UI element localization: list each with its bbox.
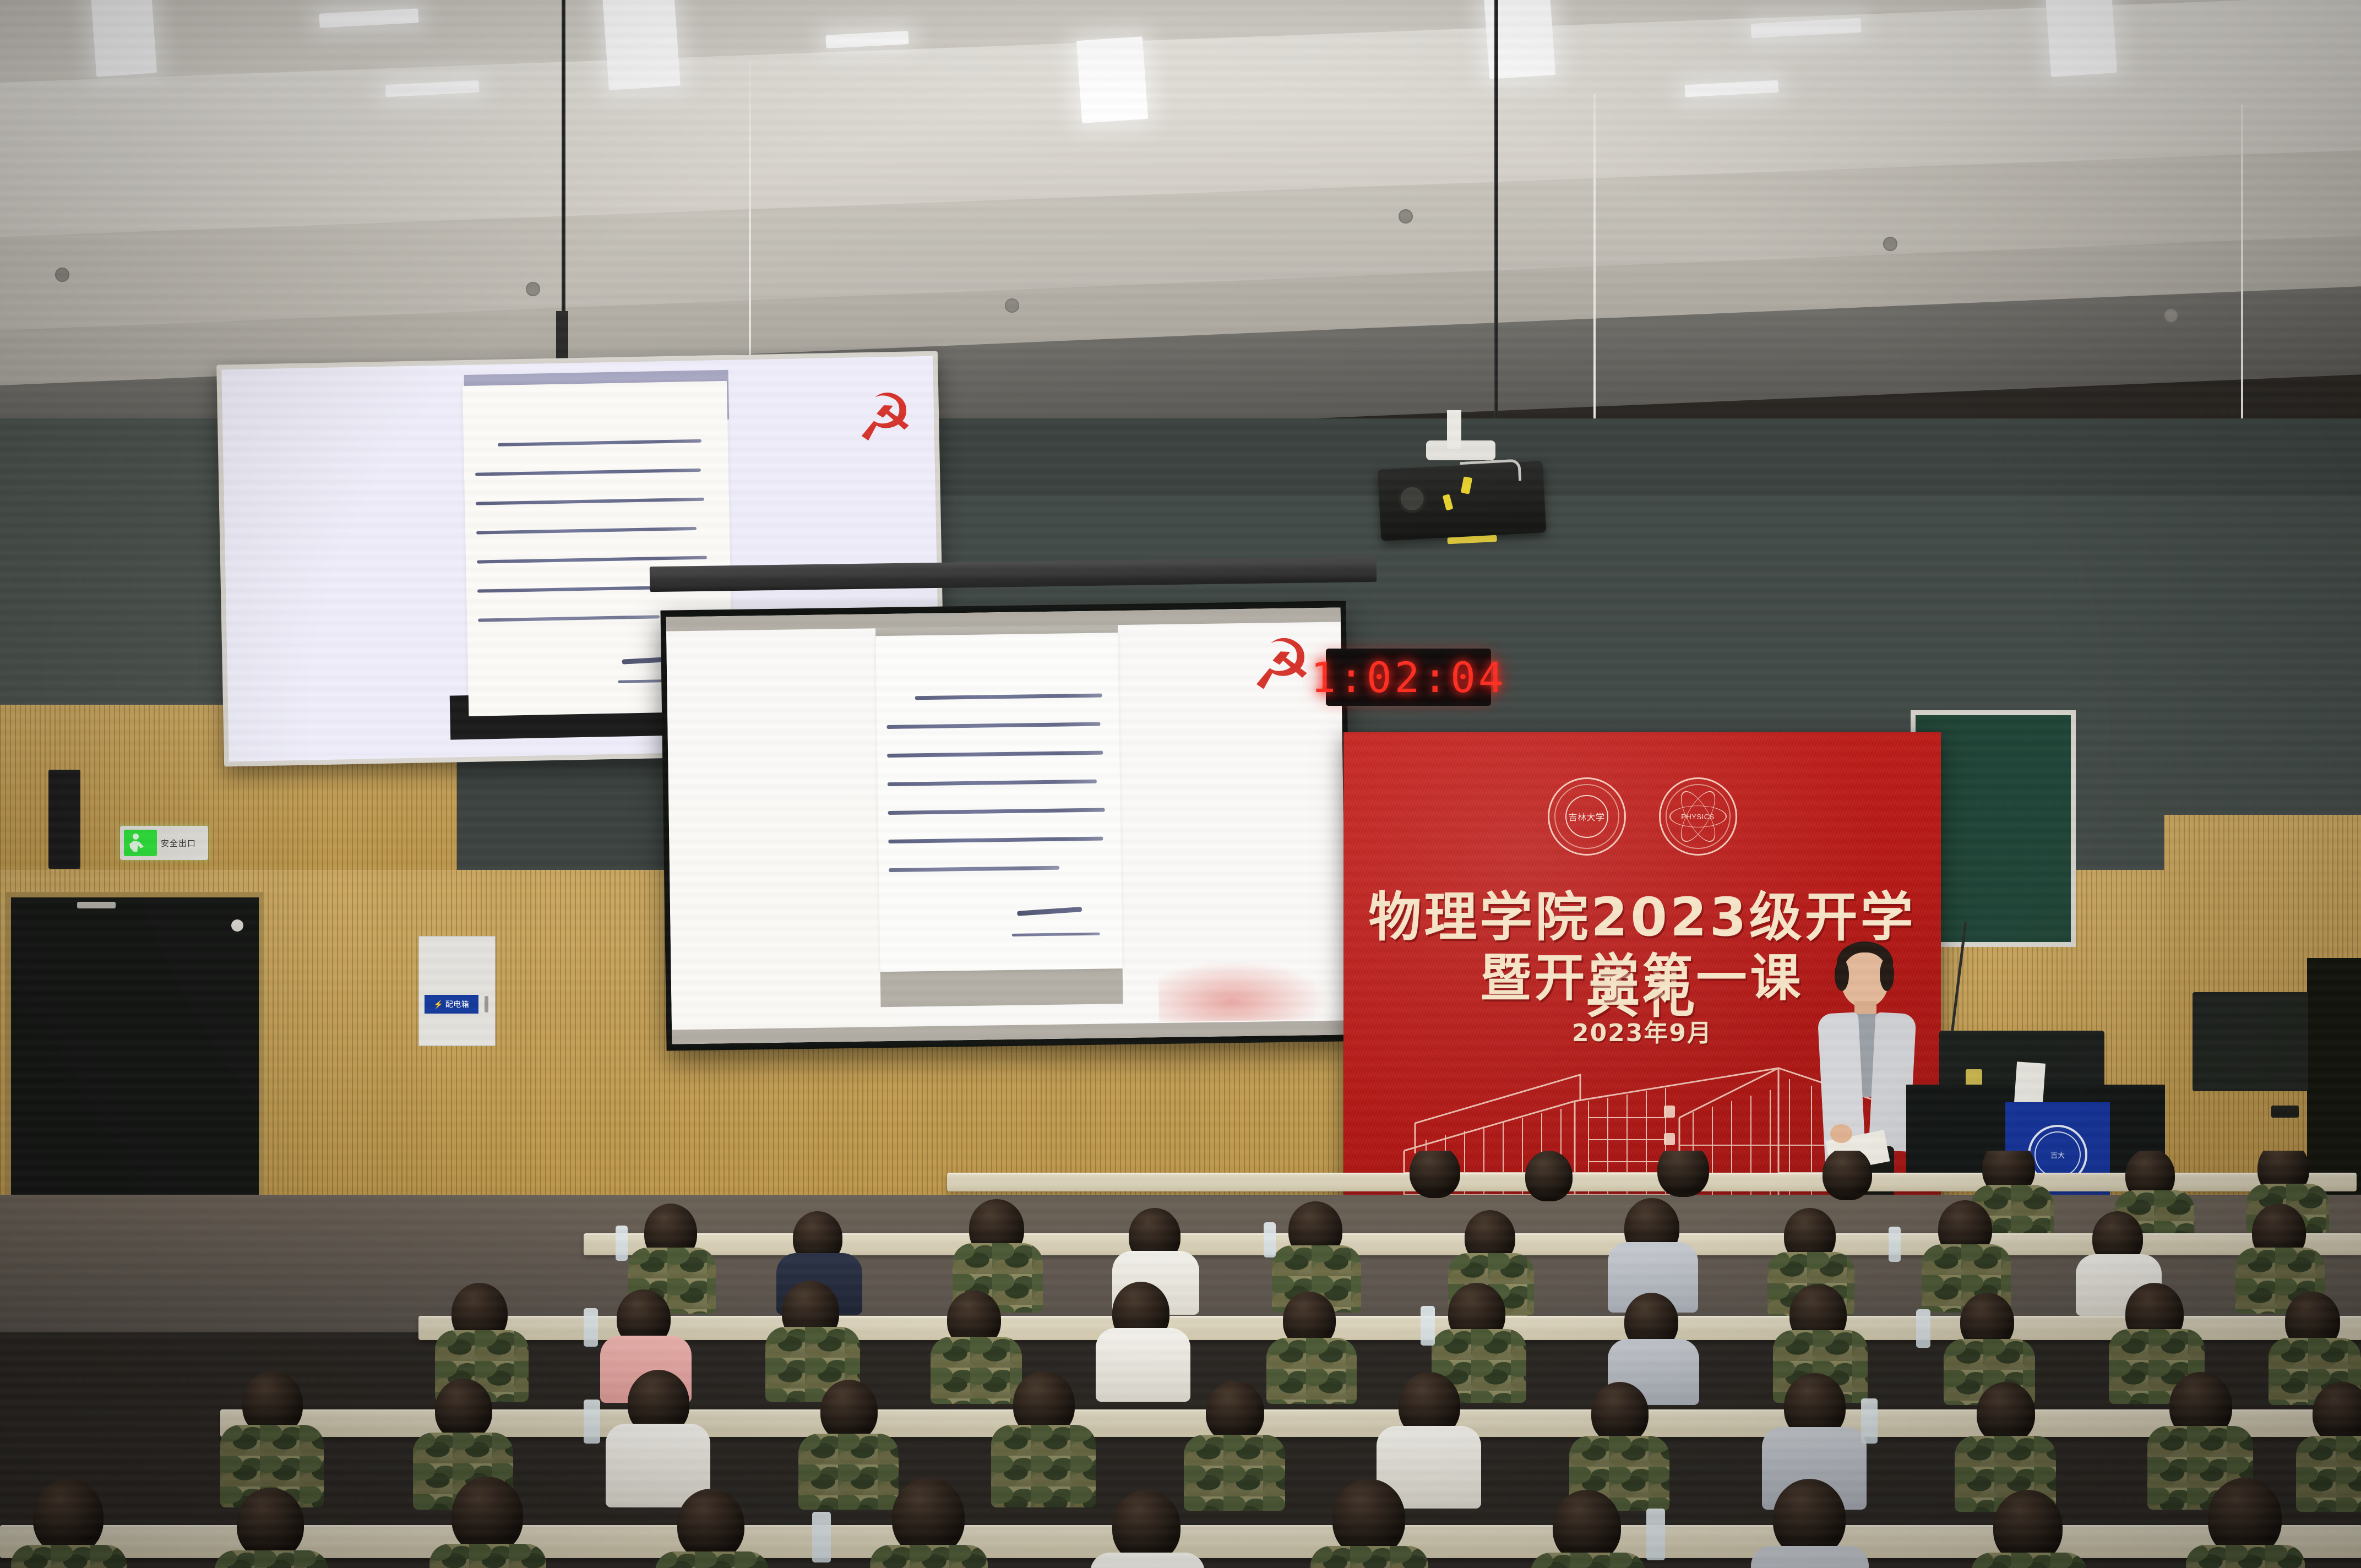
- ceiling-vent: [2164, 308, 2178, 323]
- student-torso: [11, 1545, 127, 1568]
- jilin-university-seal: 吉林大学: [1548, 777, 1626, 856]
- exit-sign-label: 安全出口: [161, 837, 196, 849]
- party-emblem-icon: ☭: [1250, 630, 1313, 700]
- emergency-exit-sign: 安全出口: [120, 826, 208, 860]
- student-head: [1657, 1151, 1709, 1197]
- student-head: [1206, 1381, 1264, 1442]
- projector-mount-pole: [1447, 410, 1461, 449]
- ceiling-vent: [526, 282, 540, 296]
- water-bottle: [1861, 1398, 1878, 1444]
- slide-surface: ☭: [666, 607, 1347, 1044]
- student-torso: [2296, 1436, 2361, 1512]
- student-head: [1525, 1151, 1573, 1201]
- water-bottle: [1889, 1227, 1901, 1262]
- lectern-monitor: [2193, 992, 2308, 1091]
- ceiling-suspension-rod: [1494, 0, 1498, 435]
- student-torso: [1184, 1435, 1285, 1511]
- student-torso: [429, 1544, 546, 1568]
- clock-digits: 1:02:04: [1310, 653, 1506, 702]
- presenter-hand: [1830, 1124, 1852, 1143]
- student-head: [1553, 1490, 1621, 1562]
- water-bottle: [616, 1226, 628, 1261]
- ceiling-vent: [55, 268, 69, 282]
- desk-row: [220, 1409, 2361, 1437]
- student-torso: [1310, 1546, 1428, 1568]
- student-head: [1823, 1151, 1872, 1200]
- ceiling-vent: [1005, 298, 1019, 313]
- student-torso: [1971, 1553, 2087, 1568]
- student-torso: [1531, 1553, 1645, 1568]
- banner-seal-row: 吉林大学 PHYSICS: [1343, 777, 1941, 856]
- letter-paper: [875, 633, 1122, 972]
- slide-left-bar: [668, 796, 892, 1030]
- student-head: [892, 1478, 965, 1556]
- lecture-hall-photo: 安全出口 ⚡ 配电箱: [0, 0, 2361, 1568]
- student-head: [1591, 1382, 1649, 1444]
- student-torso: [655, 1551, 769, 1568]
- student-head: [1773, 1479, 1846, 1557]
- projector-lens: [1397, 483, 1427, 514]
- student-torso: [1096, 1328, 1190, 1402]
- presenter-hair-left: [1835, 959, 1849, 991]
- student-torso: [1090, 1553, 1205, 1568]
- distribution-box-label: ⚡ 配电箱: [425, 995, 478, 1014]
- door-knob[interactable]: [231, 919, 243, 932]
- water-bottle: [1421, 1306, 1435, 1346]
- door-hinge: [77, 902, 116, 908]
- seated-students: [0, 1151, 2361, 1568]
- student-head: [435, 1379, 492, 1440]
- student-torso: [991, 1425, 1096, 1507]
- lightning-icon: ⚡: [434, 1000, 444, 1009]
- student-torso: [2186, 1545, 2305, 1568]
- water-bottle: [1264, 1222, 1276, 1257]
- student-head: [1332, 1479, 1405, 1557]
- water-bottle: [1916, 1309, 1930, 1348]
- electrical-distribution-box[interactable]: ⚡ 配电箱: [418, 936, 496, 1046]
- running-man-icon: [124, 830, 157, 856]
- wall-speaker: [48, 770, 80, 869]
- physics-college-seal: PHYSICS: [1659, 777, 1737, 856]
- student-head: [33, 1479, 104, 1555]
- wall-outlet[interactable]: [2271, 1106, 2299, 1118]
- student-torso: [1751, 1546, 1869, 1568]
- student-head: [237, 1488, 304, 1559]
- ceiling-light: [2046, 0, 2117, 77]
- presenter-hair-right: [1880, 958, 1894, 991]
- water-bottle: [1646, 1509, 1665, 1560]
- university-seal-center: 吉林大学: [1565, 795, 1608, 838]
- signature: [1017, 907, 1082, 916]
- student-head: [677, 1489, 744, 1560]
- ceiling-light: [602, 0, 681, 90]
- student-torso: [1266, 1338, 1357, 1404]
- main-projection-screen[interactable]: ☭: [660, 601, 1352, 1050]
- projection-surface: ☭: [666, 607, 1347, 1044]
- slide-red-decoration: [1158, 954, 1341, 1022]
- ceiling-light: [91, 0, 157, 77]
- student-torso: [931, 1337, 1022, 1404]
- panel-latch[interactable]: [485, 996, 488, 1012]
- ceiling-vent: [1399, 209, 1413, 224]
- ceiling-light: [1076, 36, 1148, 123]
- student-torso: [870, 1545, 988, 1568]
- ceiling-projector: [1378, 461, 1546, 541]
- student-head: [451, 1477, 523, 1554]
- student-head: [1112, 1490, 1180, 1562]
- ceiling-vent: [1883, 237, 1897, 251]
- desk-row: [418, 1316, 2361, 1340]
- water-bottle: [812, 1512, 831, 1562]
- atom-icon: [1669, 788, 1727, 845]
- student-head: [1977, 1382, 2035, 1444]
- party-emblem-icon: ☭: [855, 385, 915, 451]
- student-head: [1410, 1151, 1460, 1198]
- student-torso: [798, 1434, 899, 1510]
- student-torso: [215, 1550, 328, 1568]
- projector-led: [1443, 494, 1454, 510]
- student-head: [820, 1380, 878, 1441]
- water-bottle: [584, 1400, 600, 1444]
- water-bottle: [584, 1308, 598, 1347]
- digital-wall-clock: 1:02:04: [1326, 649, 1491, 706]
